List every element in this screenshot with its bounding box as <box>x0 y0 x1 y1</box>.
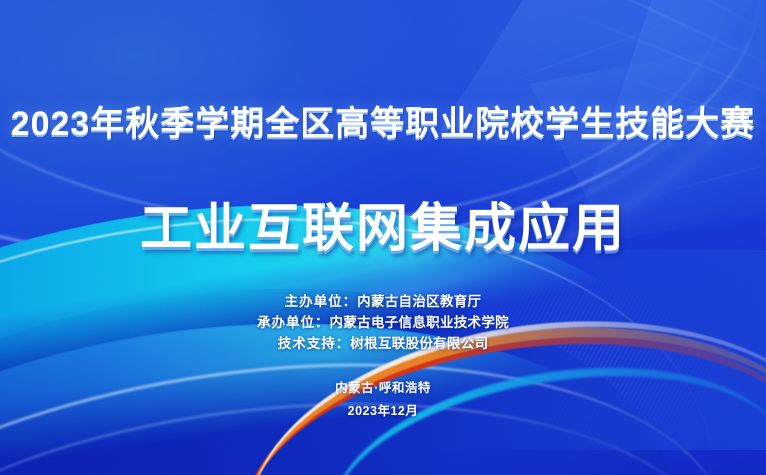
organizer-line-host: 主办单位：内蒙古自治区教育厅 <box>0 291 766 312</box>
footer-block: 内蒙古·呼和浩特 2023年12月 <box>0 377 766 423</box>
organizer-value-undertaker: 内蒙古电子信息职业技术学院 <box>330 315 509 330</box>
organizer-label-tech-support: 技术支持： <box>278 336 351 351</box>
organizer-block: 主办单位：内蒙古自治区教育厅 承办单位：内蒙古电子信息职业技术学院 技术支持：树… <box>0 291 766 354</box>
poster-banner: 2023年秋季学期全区高等职业院校学生技能大赛 工业互联网集成应用 主办单位：内… <box>0 0 766 475</box>
footer-date: 2023年12月 <box>0 400 766 423</box>
organizer-label-host: 主办单位： <box>285 294 358 309</box>
organizer-value-host: 内蒙古自治区教育厅 <box>357 294 481 309</box>
organizer-line-undertaker: 承办单位：内蒙古电子信息职业技术学院 <box>0 312 766 333</box>
footer-location: 内蒙古·呼和浩特 <box>0 377 766 400</box>
organizer-line-tech-support: 技术支持：树根互联股份有限公司 <box>0 333 766 354</box>
organizer-label-undertaker: 承办单位： <box>257 315 330 330</box>
organizer-value-tech-support: 树根互联股份有限公司 <box>350 336 488 351</box>
poster-main-title: 2023年秋季学期全区高等职业院校学生技能大赛 <box>0 96 766 145</box>
poster-sub-title: 工业互联网集成应用 <box>0 186 766 261</box>
